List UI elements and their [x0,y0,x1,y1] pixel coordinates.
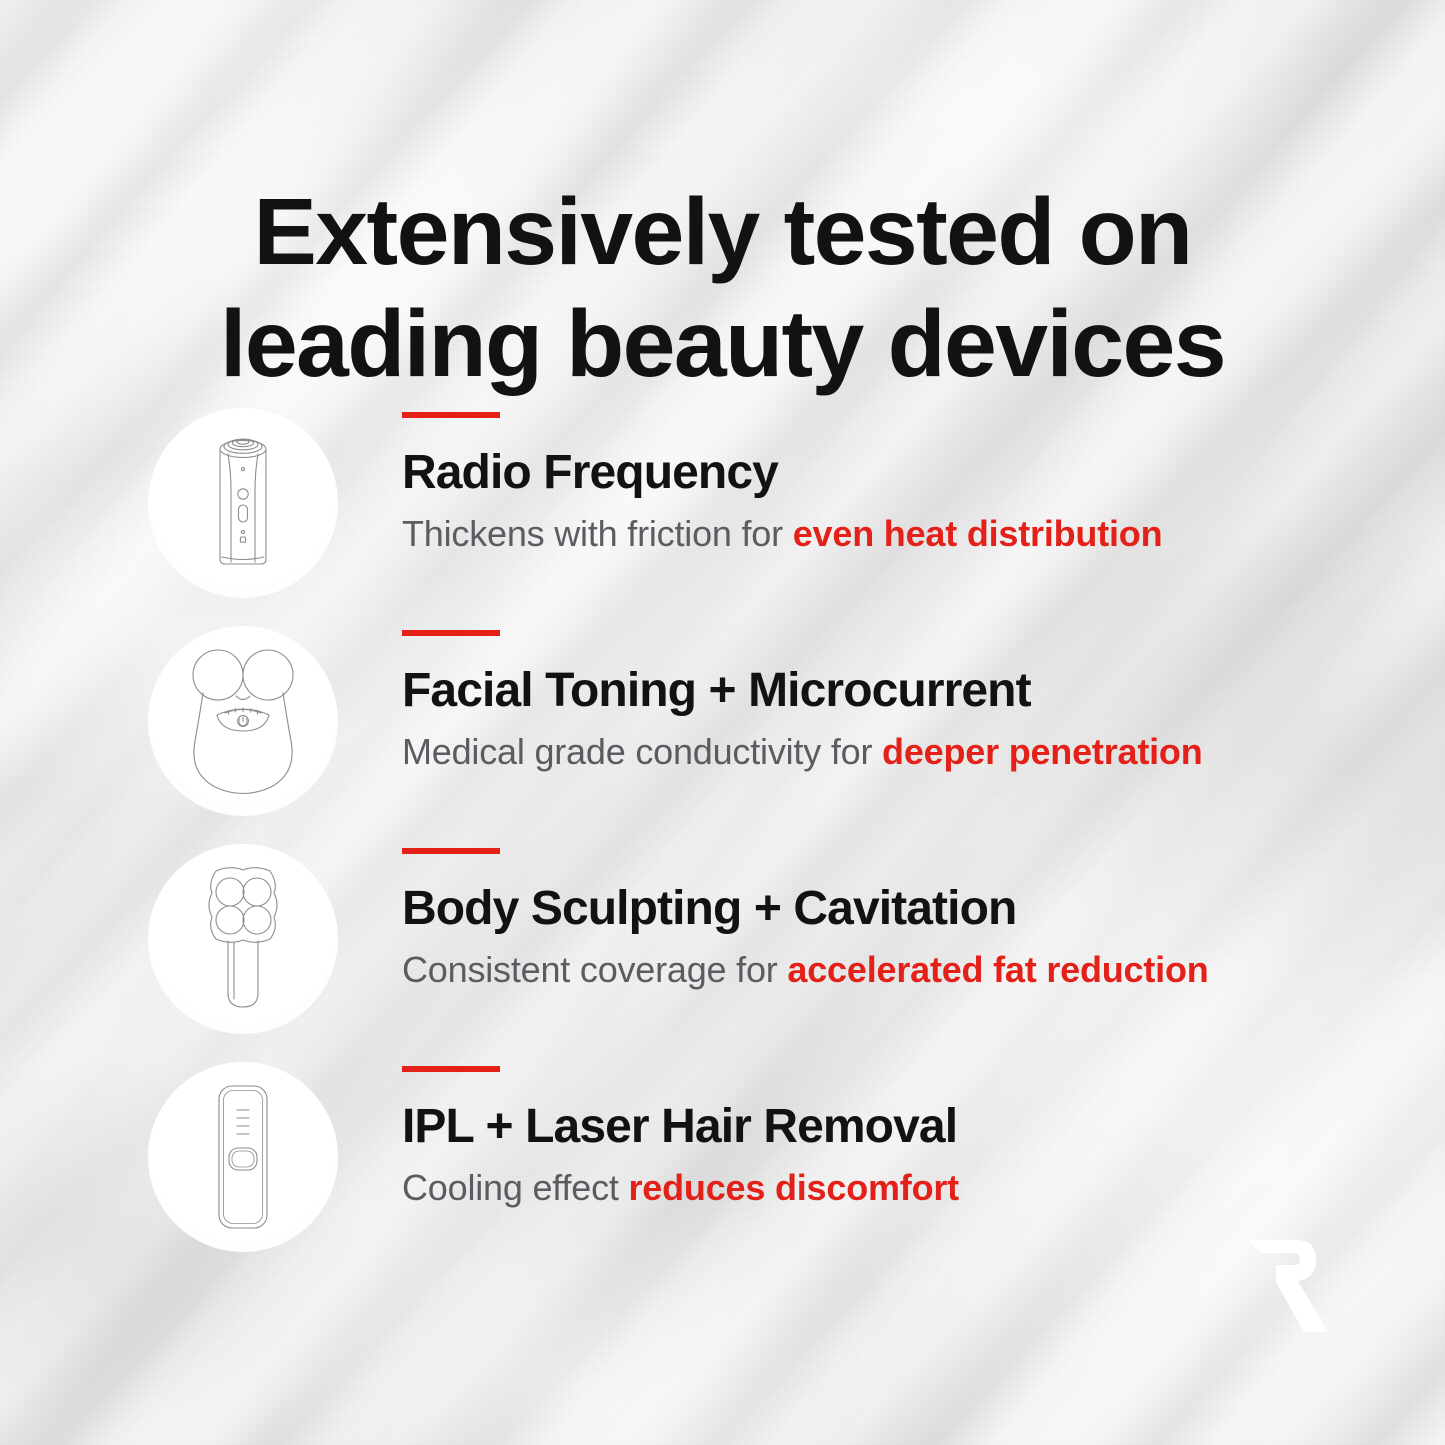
feature-subtitle-highlight: reduces discomfort [628,1167,959,1208]
feature-text-facial-toning: Facial Toning + Microcurrent Medical gra… [402,630,1322,772]
feature-item-facial-toning: Facial Toning + Microcurrent Medical gra… [0,616,1445,834]
feature-list: Radio Frequency Thickens with friction f… [0,398,1445,1270]
feature-subtitle: Thickens with friction for even heat dis… [402,515,1322,554]
feature-title: IPL + Laser Hair Removal [402,1102,1322,1152]
accent-rule [402,630,500,636]
feature-title: Facial Toning + Microcurrent [402,666,1322,716]
page-title-line-1: Extensively tested on [0,176,1445,288]
feature-item-radio-frequency: Radio Frequency Thickens with friction f… [0,398,1445,616]
stylized-r-logo [1246,1238,1330,1334]
feature-subtitle: Cooling effect reduces discomfort [402,1169,1322,1208]
accent-rule [402,412,500,418]
feature-subtitle-plain: Medical grade conductivity for [402,731,882,772]
promo-infographic: Extensively tested on leading beauty dev… [0,0,1445,1445]
rf-wand-icon [183,428,303,578]
feature-subtitle-highlight: deeper penetration [882,731,1202,772]
icon-badge-facial-toning [148,626,338,816]
body-sculpting-device-icon [178,859,308,1019]
feature-subtitle: Consistent coverage for accelerated fat … [402,951,1322,990]
icon-badge-body-sculpting [148,844,338,1034]
page-title-line-2: leading beauty devices [0,288,1445,400]
feature-title: Radio Frequency [402,448,1322,498]
feature-text-ipl-laser: IPL + Laser Hair Removal Cooling effect … [402,1066,1322,1208]
feature-text-radio-frequency: Radio Frequency Thickens with friction f… [402,412,1322,554]
accent-rule [402,848,500,854]
feature-text-body-sculpting: Body Sculpting + Cavitation Consistent c… [402,848,1322,990]
feature-item-body-sculpting: Body Sculpting + Cavitation Consistent c… [0,834,1445,1052]
feature-subtitle: Medical grade conductivity for deeper pe… [402,733,1322,772]
feature-subtitle-plain: Cooling effect [402,1167,628,1208]
page-title: Extensively tested on leading beauty dev… [0,176,1445,400]
feature-item-ipl-laser: IPL + Laser Hair Removal Cooling effect … [0,1052,1445,1270]
icon-badge-ipl-laser [148,1062,338,1252]
icon-badge-radio-frequency [148,408,338,598]
feature-title: Body Sculpting + Cavitation [402,884,1322,934]
feature-subtitle-highlight: accelerated fat reduction [787,949,1208,990]
ipl-handset-icon [190,1080,296,1234]
feature-subtitle-highlight: even heat distribution [793,513,1163,554]
accent-rule [402,1066,500,1072]
feature-subtitle-plain: Consistent coverage for [402,949,787,990]
microcurrent-device-icon [173,645,313,797]
feature-subtitle-plain: Thickens with friction for [402,513,793,554]
